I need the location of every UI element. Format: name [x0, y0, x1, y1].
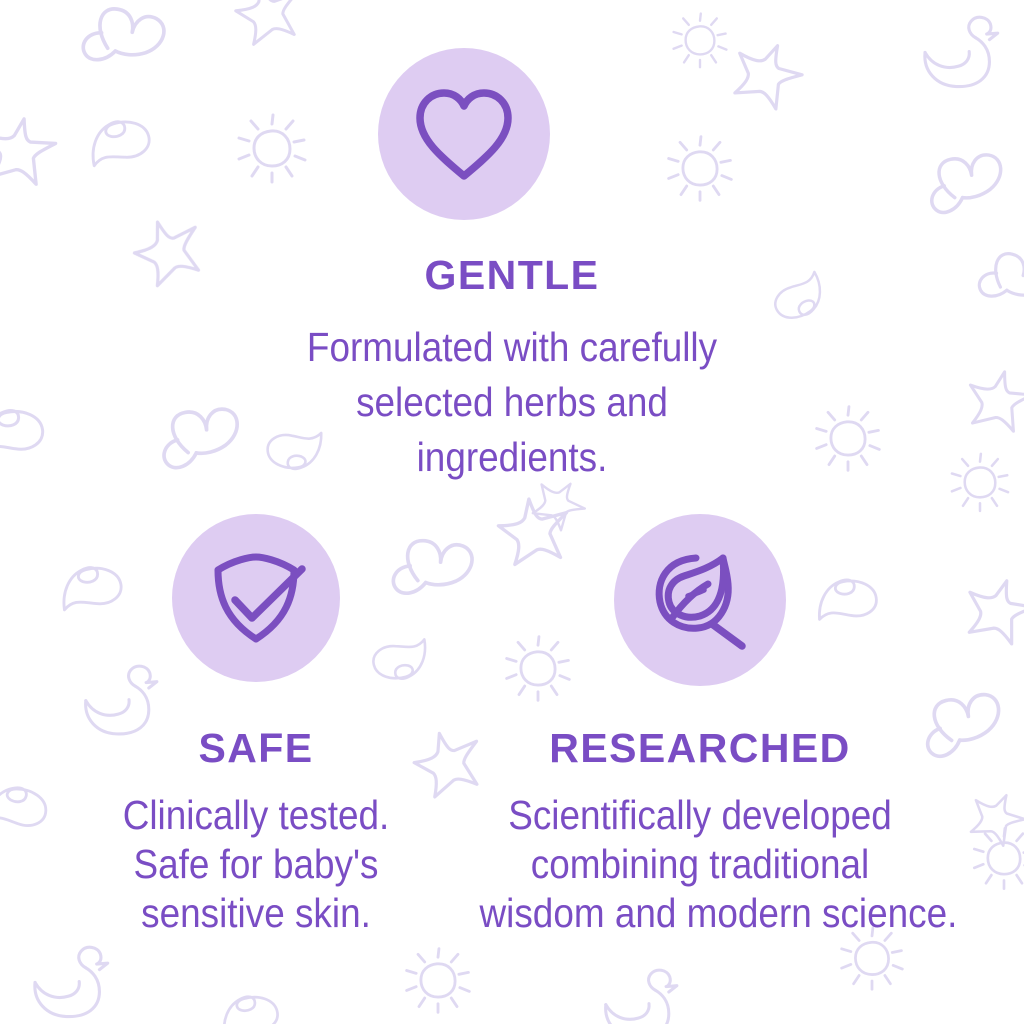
feature-gentle: GENTLE Formulated with carefully selecte… — [0, 255, 1024, 485]
leaf-magnifier-icon — [644, 544, 756, 656]
feature-line: combining traditional — [480, 840, 921, 889]
feature-line: ingredients. — [51, 430, 973, 485]
feature-title-safe: SAFE — [36, 728, 476, 769]
feature-researched: RESEARCHED Scientifically developed comb… — [455, 728, 945, 938]
feature-line: wisdom and modern science. — [480, 889, 921, 938]
feature-title-gentle: GENTLE — [0, 255, 1024, 296]
feature-title-researched: RESEARCHED — [455, 728, 945, 769]
feature-line: Safe for baby's — [58, 840, 454, 889]
feature-description-researched: Scientifically developed combining tradi… — [480, 791, 921, 938]
feature-description-safe: Clinically tested. Safe for baby's sensi… — [58, 791, 454, 938]
researched-icon-circle — [614, 514, 786, 686]
heart-icon — [410, 84, 518, 184]
feature-safe: SAFE Clinically tested. Safe for baby's … — [36, 728, 476, 938]
product-benefits-infographic: GENTLE Formulated with carefully selecte… — [0, 0, 1024, 1024]
shield-check-icon — [202, 544, 310, 652]
feature-line: selected herbs and — [51, 375, 973, 430]
gentle-icon-circle — [378, 48, 550, 220]
feature-description-gentle: Formulated with carefully selected herbs… — [51, 320, 973, 485]
safe-icon-circle — [172, 514, 340, 682]
feature-line: sensitive skin. — [58, 889, 454, 938]
feature-line: Formulated with carefully — [51, 320, 973, 375]
feature-line: Clinically tested. — [58, 791, 454, 840]
feature-line: Scientifically developed — [480, 791, 921, 840]
